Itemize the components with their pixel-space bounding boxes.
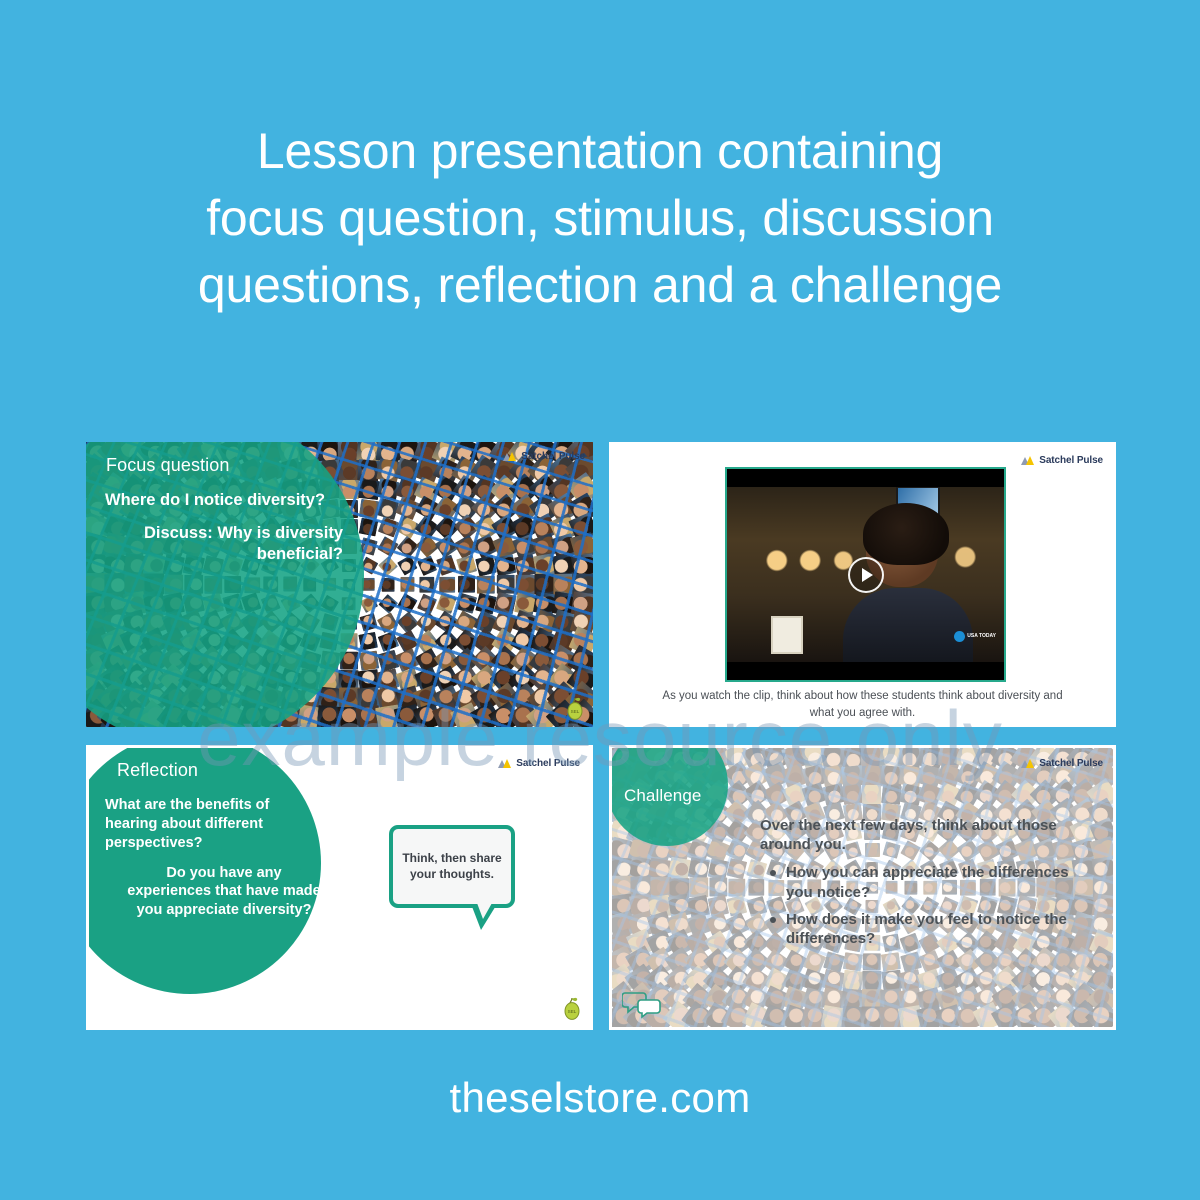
slide-stimulus[interactable]: Satchel Pulse USA TODAY As you watch the… (609, 442, 1116, 727)
focus-question-1: Where do I notice diversity? (105, 490, 343, 511)
slide-kicker-reflection: Reflection (117, 760, 198, 781)
page-title: Lesson presentation containing focus que… (60, 118, 1140, 319)
challenge-lead: Over the next few days, think about thos… (760, 816, 1091, 854)
satchel-pulse-logo: Satchel Pulse (498, 758, 580, 769)
svg-text:SEL: SEL (568, 1009, 577, 1014)
pear-icon: SEL (562, 995, 582, 1021)
svg-text:SEL: SEL (571, 709, 580, 714)
satchel-pulse-logo-text: Satchel Pulse (1039, 455, 1103, 466)
play-icon[interactable] (848, 557, 884, 593)
mountain-logo-icon (498, 759, 512, 768)
speech-bubble-text: Think, then share your thoughts. (393, 851, 511, 883)
satchel-pulse-logo: Satchel Pulse (1021, 455, 1103, 466)
slide-focus-question[interactable]: Focus question Where do I notice diversi… (86, 442, 593, 727)
footer-website-url: theselstore.com (0, 1074, 1200, 1122)
focus-question-body: Where do I notice diversity? Discuss: Wh… (105, 490, 343, 564)
list-item: How does it make you feel to notice the … (786, 910, 1091, 948)
challenge-body: Over the next few days, think about thos… (760, 816, 1091, 956)
mountain-logo-icon (503, 452, 517, 461)
slide-challenge[interactable]: Challenge Over the next few days, think … (609, 745, 1116, 1030)
page-title-line-3: questions, reflection and a challenge (60, 252, 1140, 319)
focus-question-2: Discuss: Why is diversity beneficial? (105, 523, 343, 565)
slide-reflection[interactable]: Reflection What are the benefits of hear… (86, 745, 593, 1030)
usa-today-label: USA TODAY (967, 634, 996, 640)
mountain-logo-icon (1021, 456, 1035, 465)
challenge-bullet-list: How you can appreciate the differences y… (760, 863, 1091, 948)
video-player[interactable]: USA TODAY (725, 467, 1006, 682)
stimulus-caption: As you watch the clip, think about how t… (652, 688, 1073, 721)
page-title-line-2: focus question, stimulus, discussion (60, 185, 1140, 252)
slide-kicker-challenge: Challenge (624, 786, 701, 806)
speech-bubbles-icon (622, 989, 662, 1019)
satchel-pulse-logo: Satchel Pulse (1021, 758, 1103, 769)
satchel-pulse-logo: Satchel Pulse (503, 451, 585, 462)
speech-bubble: Think, then share your thoughts. (389, 825, 515, 908)
reflection-body: What are the benefits of hearing about d… (105, 796, 321, 920)
list-item: How you can appreciate the differences y… (786, 863, 1091, 901)
satchel-pulse-logo-text: Satchel Pulse (521, 451, 585, 462)
reflection-question-1: What are the benefits of hearing about d… (105, 796, 321, 853)
usa-today-watermark: USA TODAY (954, 631, 996, 642)
slide-kicker-focus: Focus question (106, 455, 229, 476)
reflection-question-2: Do you have any experiences that have ma… (105, 864, 321, 921)
mountain-logo-icon (1021, 759, 1035, 768)
slide-grid: Focus question Where do I notice diversi… (86, 442, 1116, 1030)
satchel-pulse-logo-text: Satchel Pulse (516, 758, 580, 769)
speech-bubble-tail-inner (477, 903, 492, 919)
pear-icon: SEL (565, 695, 585, 721)
teal-circle-overlay (86, 442, 364, 727)
satchel-pulse-logo-text: Satchel Pulse (1039, 758, 1103, 769)
page-title-line-1: Lesson presentation containing (60, 118, 1140, 185)
